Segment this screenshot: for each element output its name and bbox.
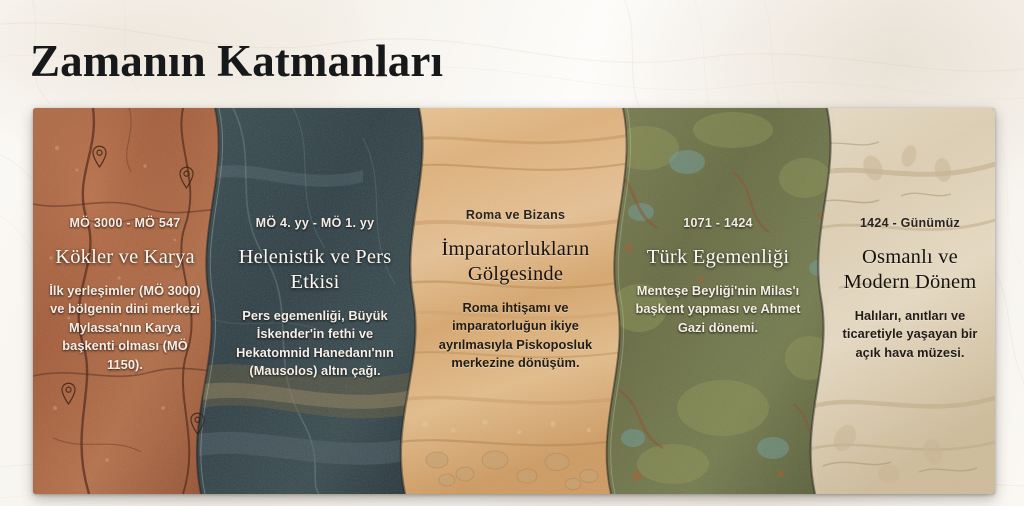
panel-title: Helenistik ve Pers Etkisi xyxy=(225,245,405,295)
timeline-panel-helenistik-ve-pers-etkisi[interactable]: MÖ 4. yy - MÖ 1. yy Helenistik ve Pers E… xyxy=(225,108,405,494)
panel-description: Halıları, anıtları ve ticaretiyle yaşaya… xyxy=(831,307,989,362)
timeline-panel-osmanli-ve-modern-donem[interactable]: 1424 - Günümüz Osmanlı ve Modern Dönem H… xyxy=(831,108,989,494)
panel-era-label: MÖ 4. yy - MÖ 1. yy xyxy=(256,216,375,231)
panel-description: Pers egemenliği, Büyük İskender'in fethi… xyxy=(225,307,405,381)
panel-era-label: 1071 - 1424 xyxy=(683,216,752,231)
timeline-card: MÖ 3000 - MÖ 547 Kökler ve Karya İlk yer… xyxy=(33,108,995,494)
panel-era-label: 1424 - Günümüz xyxy=(860,216,960,231)
panel-era-label: Roma ve Bizans xyxy=(466,208,565,223)
panel-description: Menteşe Beyliği'nin Milas'ı başkent yapm… xyxy=(633,282,803,337)
timeline-panel-kokler-ve-karya[interactable]: MÖ 3000 - MÖ 547 Kökler ve Karya İlk yer… xyxy=(43,108,207,494)
panel-era-label: MÖ 3000 - MÖ 547 xyxy=(70,216,181,231)
timeline-panel-turk-egemenligi[interactable]: 1071 - 1424 Türk Egemenliği Menteşe Beyl… xyxy=(633,108,803,494)
page-title: Zamanın Katmanları xyxy=(30,36,443,86)
panel-title: Türk Egemenliği xyxy=(647,245,789,270)
panel-title: İmparatorlukların Gölgesinde xyxy=(423,237,608,287)
panel-description: İlk yerleşimler (MÖ 3000) ve bölgenin di… xyxy=(43,282,207,374)
panel-description: Roma ihtişamı ve imparatorluğun ikiye ay… xyxy=(423,299,608,373)
panel-title: Kökler ve Karya xyxy=(55,245,195,270)
timeline-panel-text-overlay: MÖ 3000 - MÖ 547 Kökler ve Karya İlk yer… xyxy=(33,108,995,494)
panel-title: Osmanlı ve Modern Dönem xyxy=(831,245,989,295)
timeline-panel-imparatorluklarin-golgesinde[interactable]: Roma ve Bizans İmparatorlukların Gölgesi… xyxy=(423,108,608,494)
